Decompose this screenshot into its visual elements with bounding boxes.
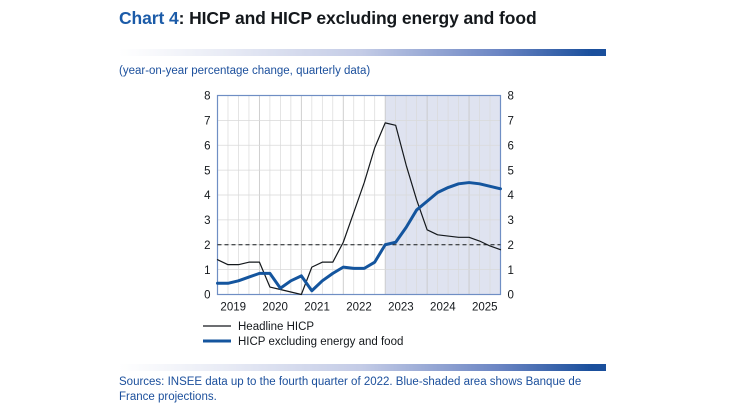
y-axis-tick-label-right: 8 [508, 91, 514, 103]
y-axis-tick-label-right: 0 [508, 290, 514, 302]
y-axis-tick-label-left: 6 [204, 140, 210, 152]
y-axis-tick-label-left: 8 [204, 91, 210, 103]
projection-shading [385, 96, 500, 295]
y-axis-tick-label-left: 2 [204, 240, 210, 252]
chart-figure: 0011223344556677882019202020212022202320… [0, 0, 730, 410]
y-axis-tick-label-right: 1 [508, 265, 514, 277]
y-axis-tick-label-right: 6 [508, 140, 514, 152]
chart-page: Chart 4: HICP and HICP excluding energy … [0, 0, 730, 410]
y-axis-tick-label-right: 4 [508, 190, 515, 202]
y-axis-tick-label-left: 1 [204, 265, 210, 277]
chart-subtitle: (year-on-year percentage change, quarter… [119, 65, 370, 77]
x-axis-tick-label: 2023 [388, 302, 414, 314]
chart-svg: 0011223344556677882019202020212022202320… [0, 0, 730, 410]
page-title: Chart 4: HICP and HICP excluding energy … [119, 8, 599, 29]
plot-frame [218, 96, 501, 295]
y-axis-tick-label-left: 4 [204, 190, 211, 202]
y-axis-tick-label-right: 2 [508, 240, 514, 252]
series-line [218, 183, 501, 291]
x-axis-tick-label: 2019 [220, 302, 246, 314]
y-axis-tick-label-right: 3 [508, 215, 514, 227]
series-line [218, 123, 501, 295]
legend-label: HICP excluding energy and food [238, 336, 403, 348]
y-axis-tick-label-right: 5 [508, 165, 514, 177]
y-axis-tick-label-left: 5 [204, 165, 210, 177]
y-axis-tick-label-left: 3 [204, 215, 210, 227]
chart-number-label: Chart 4 [119, 8, 179, 28]
x-axis-tick-label: 2020 [262, 302, 288, 314]
sources-note: Sources: INSEE data up to the fourth qua… [119, 375, 619, 406]
x-axis-tick-label: 2024 [430, 302, 456, 314]
x-axis-tick-label: 2022 [346, 302, 372, 314]
y-axis-tick-label-right: 7 [508, 116, 514, 128]
x-axis-tick-label: 2025 [472, 302, 498, 314]
divider-rule-top [119, 49, 606, 56]
y-axis-tick-label-left: 0 [204, 290, 210, 302]
divider-rule-bottom [119, 364, 606, 371]
legend-label: Headline HICP [238, 321, 314, 333]
chart-title-text: : HICP and HICP excluding energy and foo… [179, 8, 537, 28]
y-axis-tick-label-left: 7 [204, 116, 210, 128]
x-axis-tick-label: 2021 [304, 302, 330, 314]
